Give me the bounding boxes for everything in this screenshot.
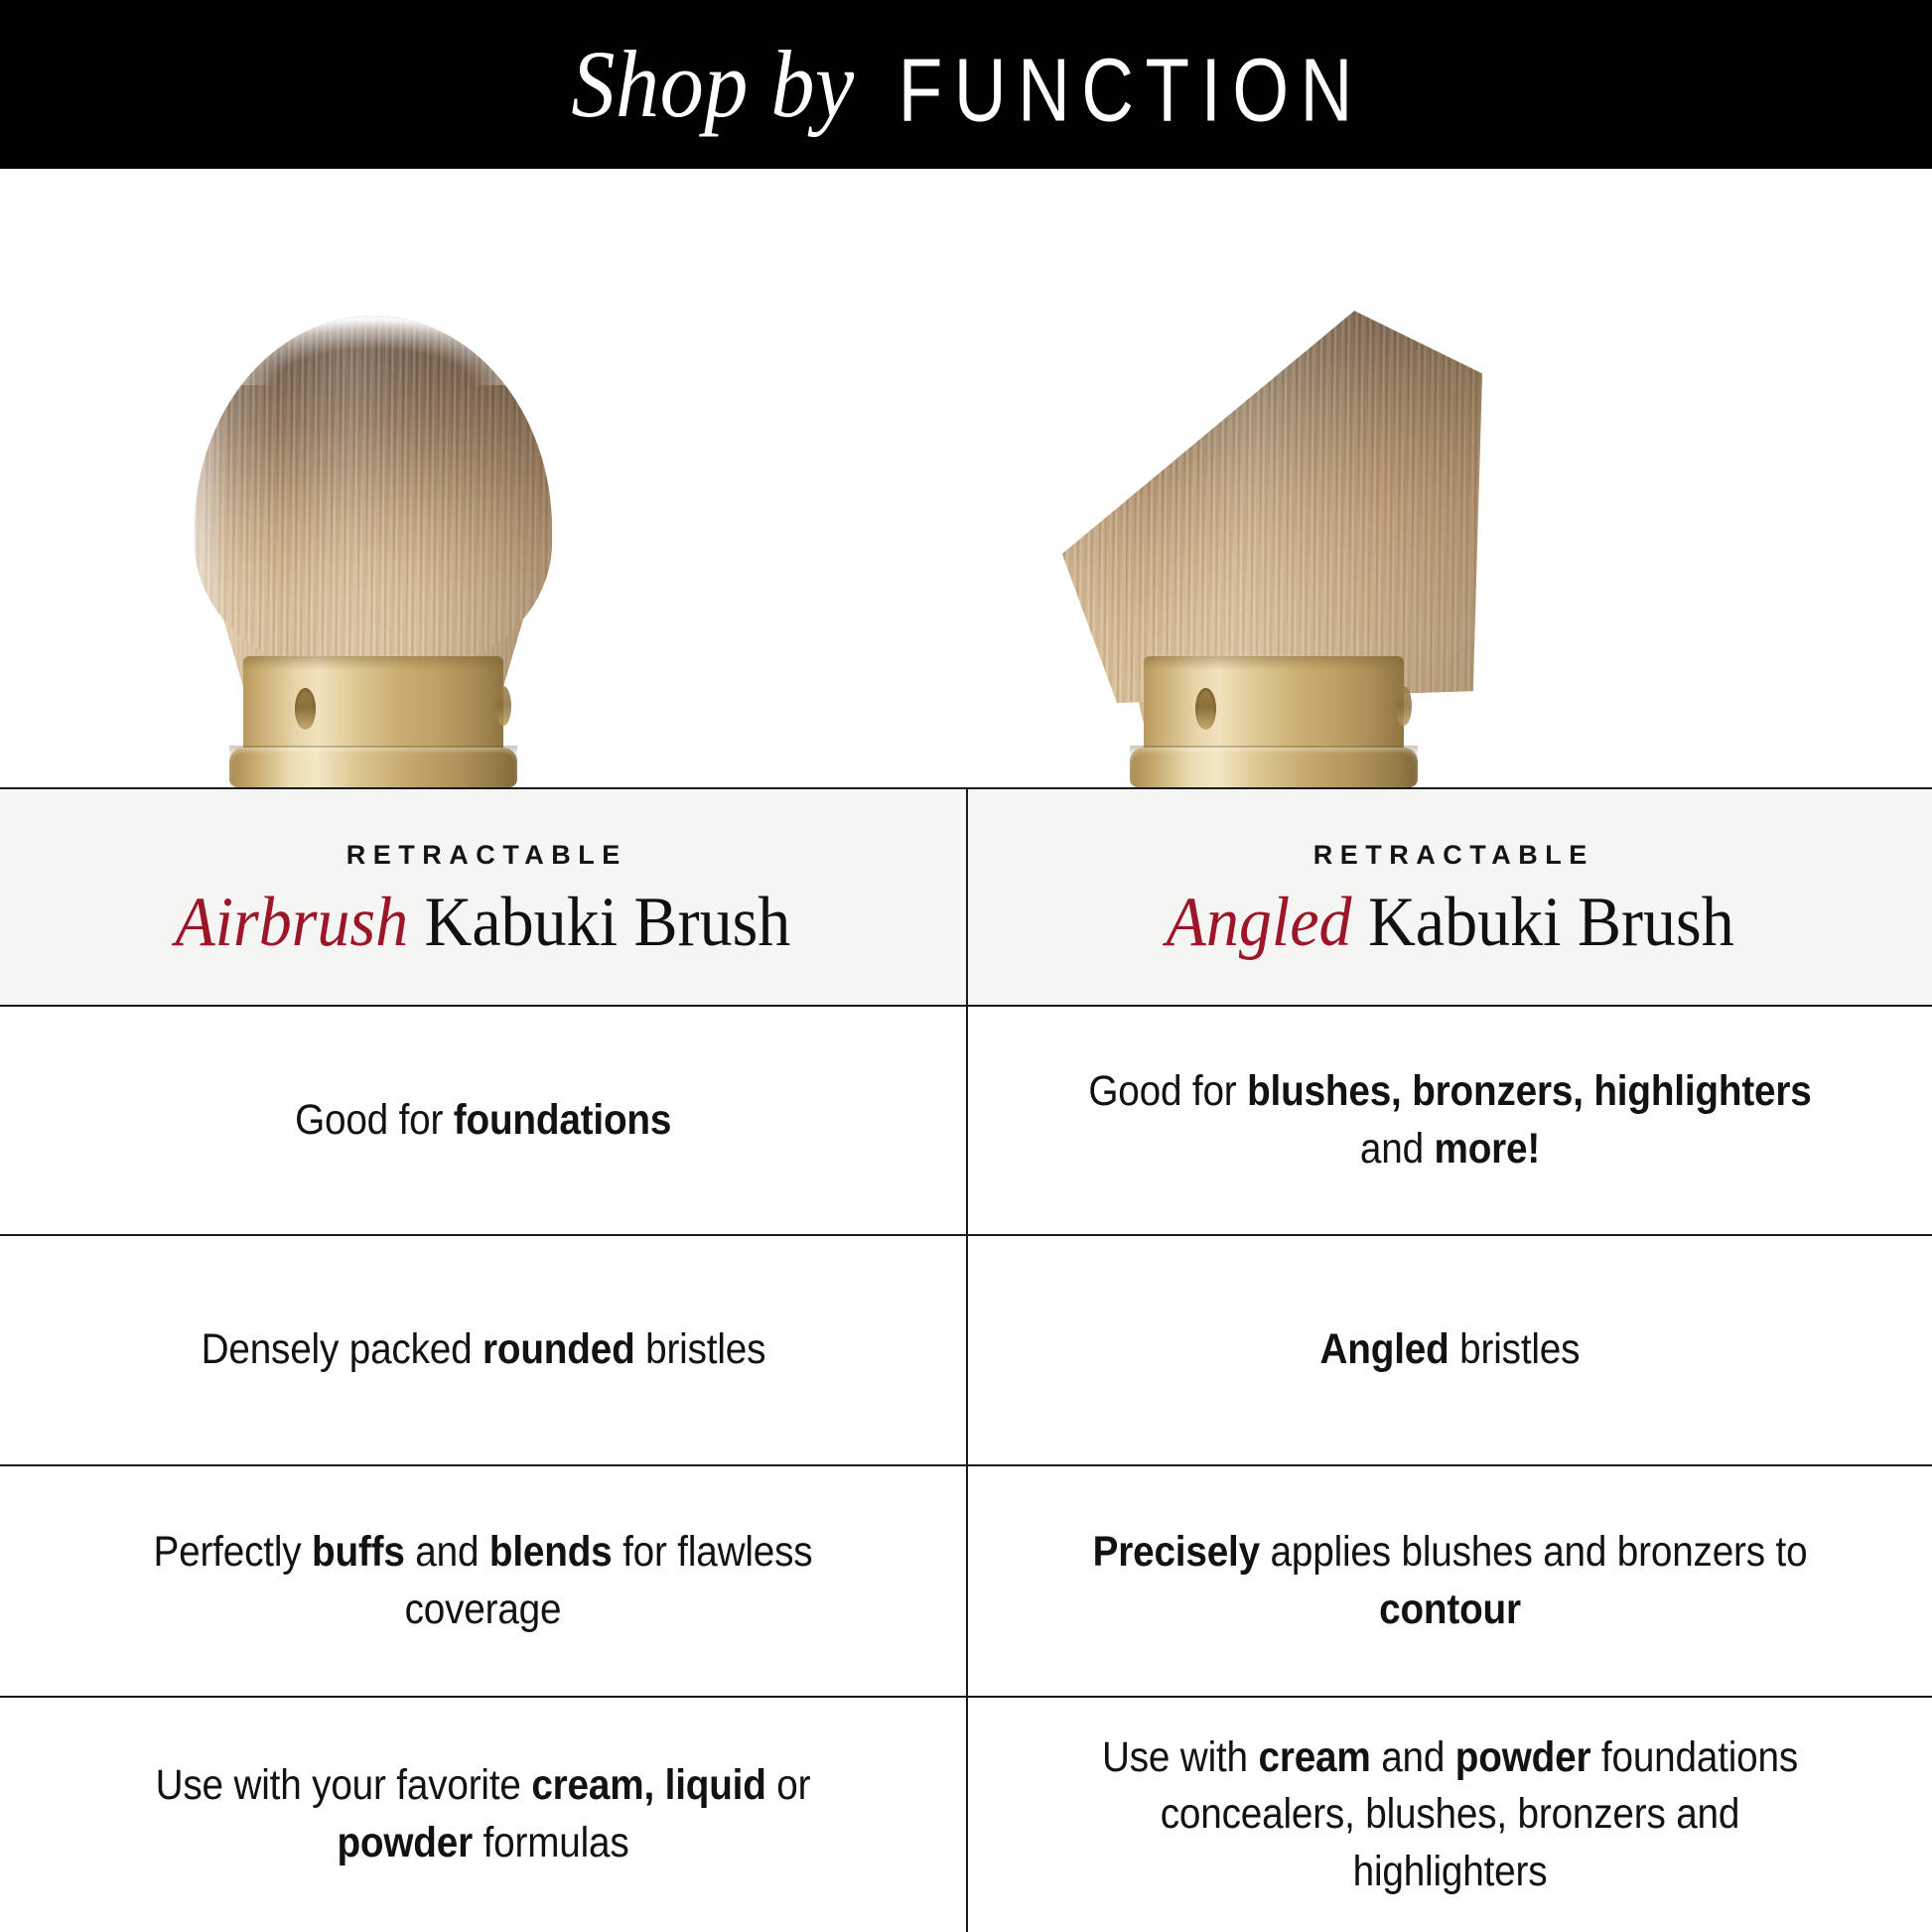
bristle-texture — [1026, 311, 1482, 703]
ferrule-side-nub — [495, 686, 511, 726]
feature-text: Use with your favorite cream, liquid or … — [111, 1757, 856, 1871]
feature-cell-left: Densely packed rounded bristles — [0, 1236, 966, 1464]
product-image-row — [0, 169, 1932, 787]
ferrule-base-ring — [1130, 748, 1418, 787]
product-name-accent: Angled — [1166, 884, 1351, 961]
feature-text: Densely packed rounded bristles — [201, 1321, 765, 1379]
feature-cell-right: Good for blushes, bronzers, highlighters… — [966, 1007, 1932, 1234]
shop-by-function-comparison-page: Shop by FUNCTION — [0, 0, 1932, 1932]
ferrule-side-nub — [1396, 686, 1412, 726]
product-name-rest: Kabuki Brush — [1351, 884, 1733, 961]
eyebrow-label: RETRACTABLE — [1306, 840, 1593, 871]
feature-cell-right: Precisely applies blushes and bronzers t… — [966, 1466, 1932, 1696]
product-name-accent: Airbrush — [176, 884, 409, 961]
product-name: Airbrush Kabuki Brush — [176, 887, 791, 960]
feature-text: Perfectly buffs and blends for flawless … — [111, 1524, 856, 1638]
product-image-angled[interactable] — [966, 169, 1932, 787]
brush-head — [195, 316, 552, 673]
feature-cell-right: Angled bristles — [966, 1236, 1932, 1464]
table-row: Densely packed rounded bristles Angled b… — [0, 1236, 1932, 1466]
feature-text: Angled bristles — [1320, 1321, 1581, 1379]
product-title-band: RETRACTABLE Airbrush Kabuki Brush RETRAC… — [0, 787, 1932, 1007]
table-row: Good for foundations Good for blushes, b… — [0, 1007, 1932, 1236]
brush-tip-softness — [195, 316, 552, 385]
table-row: Use with your favorite cream, liquid or … — [0, 1698, 1932, 1932]
table-row: Perfectly buffs and blends for flawless … — [0, 1466, 1932, 1698]
product-name: Angled Kabuki Brush — [1166, 887, 1733, 960]
page-title-caps: FUNCTION — [898, 47, 1364, 136]
feature-text: Good for foundations — [295, 1092, 671, 1150]
feature-text: Good for blushes, bronzers, highlighters… — [1079, 1063, 1822, 1177]
page-title-script: Shop by — [571, 37, 854, 132]
header-banner: Shop by FUNCTION — [0, 0, 1932, 169]
ferrule-top-shadow — [243, 656, 503, 670]
eyebrow-label: RETRACTABLE — [339, 840, 626, 871]
gold-ferrule — [1130, 656, 1418, 787]
bristle-texture-fine — [195, 316, 552, 673]
comparison-table: Good for foundations Good for blushes, b… — [0, 1007, 1932, 1932]
brush-illustration-rounded — [195, 316, 552, 787]
brush-illustration-angled — [1026, 311, 1482, 787]
product-image-airbrush[interactable] — [0, 169, 966, 787]
brush-shading — [1026, 311, 1482, 703]
feature-cell-right: Use with cream and powder foundations co… — [966, 1698, 1932, 1932]
brush-shading — [195, 316, 552, 673]
product-title-cell-airbrush[interactable]: RETRACTABLE Airbrush Kabuki Brush — [0, 789, 966, 1005]
product-title-cell-angled[interactable]: RETRACTABLE Angled Kabuki Brush — [966, 789, 1932, 1005]
product-name-rest: Kabuki Brush — [408, 884, 790, 961]
page-title: Shop by FUNCTION — [559, 37, 1374, 132]
feature-cell-left: Use with your favorite cream, liquid or … — [0, 1698, 966, 1932]
feature-cell-left: Perfectly buffs and blends for flawless … — [0, 1466, 966, 1696]
brush-head — [1026, 311, 1482, 703]
feature-text: Use with cream and powder foundations co… — [1079, 1729, 1822, 1901]
ferrule-top-shadow — [1144, 656, 1404, 670]
feature-cell-left: Good for foundations — [0, 1007, 966, 1234]
ferrule-oval-detail — [1195, 688, 1216, 730]
ferrule-oval-detail — [295, 688, 316, 730]
bristle-texture-fine — [1026, 311, 1482, 703]
ferrule-base-ring — [229, 748, 517, 787]
gold-ferrule — [229, 656, 517, 787]
bristle-texture — [195, 316, 552, 673]
feature-text: Precisely applies blushes and bronzers t… — [1079, 1524, 1822, 1638]
